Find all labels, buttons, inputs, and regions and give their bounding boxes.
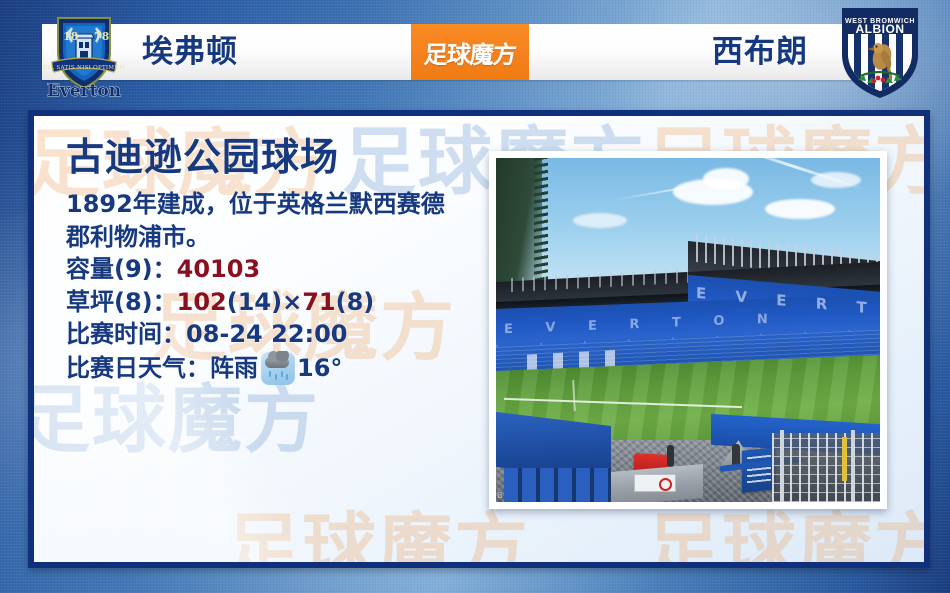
svg-text:18: 18 bbox=[63, 30, 79, 43]
yellow-bar bbox=[842, 437, 847, 482]
capacity-label: 容量(9)： bbox=[66, 255, 177, 283]
weather-value: 阵雨 bbox=[210, 352, 258, 385]
mesh-fence bbox=[772, 433, 880, 502]
brand-logo-text: 足球魔方 bbox=[423, 35, 517, 70]
screenshot-root: 18 78 NIL SATIS NISI OPTIMUM Everton 埃弗顿… bbox=[0, 0, 950, 593]
weather-temperature: 16° bbox=[297, 352, 342, 385]
pitch-length-value: 102 bbox=[177, 288, 227, 316]
svg-text:Everton: Everton bbox=[47, 81, 121, 100]
match-time-label: 比赛时间： bbox=[66, 320, 186, 348]
capacity-row: 容量(9)：40103 bbox=[66, 253, 466, 286]
home-team-name: 埃弗顿 bbox=[142, 24, 238, 80]
match-time-value: 08-24 22:00 bbox=[186, 320, 348, 348]
everton-crest: 18 78 NIL SATIS NISI OPTIMUM Everton bbox=[36, 4, 132, 100]
match-header: 18 78 NIL SATIS NISI OPTIMUM Everton 埃弗顿… bbox=[0, 0, 950, 104]
page-title: 古迪逊公园球场 bbox=[66, 138, 466, 178]
svg-text:78: 78 bbox=[94, 30, 110, 43]
pitch-suffix: (8) bbox=[336, 288, 375, 316]
pitch-mid: (14)× bbox=[227, 288, 302, 316]
fence-post bbox=[780, 430, 784, 502]
cloud bbox=[573, 213, 627, 228]
svg-text:ALBION: ALBION bbox=[856, 22, 905, 36]
brand-logo: 足球魔方 bbox=[411, 24, 529, 80]
weather-row: 比赛日天气：阵雨16° bbox=[66, 351, 466, 385]
pitch-label: 草坪(8)： bbox=[66, 288, 177, 316]
pitch-row: 草坪(8)：102(14)×71(8) bbox=[66, 286, 466, 319]
card-inner: 足球魔方 足球魔方 足球魔方 足球魔方 足球魔方 足球魔方 足球魔方 古迪逊公园… bbox=[34, 116, 924, 562]
match-time-row: 比赛时间：08-24 22:00 bbox=[66, 318, 466, 351]
svg-text:NIL SATIS NISI OPTIMUM: NIL SATIS NISI OPTIMUM bbox=[43, 65, 125, 71]
rain-shower-icon bbox=[261, 351, 295, 385]
post bbox=[667, 445, 674, 467]
west-bromwich-albion-crest: WEST BROMWICH ALBION bbox=[834, 2, 926, 102]
capacity-value: 40103 bbox=[177, 255, 261, 283]
pitch-width-value: 71 bbox=[302, 288, 335, 316]
stadium-photo: E V E R T O N E V E R T O bbox=[496, 158, 880, 502]
notice-sign bbox=[634, 474, 676, 492]
stadium-photo-frame: E V E R T O N E V E R T O bbox=[489, 151, 887, 509]
stadium-info-card: 足球魔方 足球魔方 足球魔方 足球魔方 足球魔方 足球魔方 足球魔方 古迪逊公园… bbox=[28, 110, 930, 568]
away-team-name: 西布朗 bbox=[712, 24, 808, 80]
photo-corner-mark: B bbox=[497, 491, 503, 500]
blue-sign bbox=[742, 447, 776, 493]
stadium-info-text: 古迪逊公园球场 1892年建成，位于英格兰默西赛德郡利物浦市。 容量(9)：40… bbox=[66, 138, 466, 385]
weather-label: 比赛日天气： bbox=[66, 352, 210, 385]
fence-post bbox=[851, 430, 855, 502]
stadium-description: 1892年建成，位于英格兰默西赛德郡利物浦市。 bbox=[66, 188, 456, 253]
bench-seats bbox=[504, 468, 612, 502]
